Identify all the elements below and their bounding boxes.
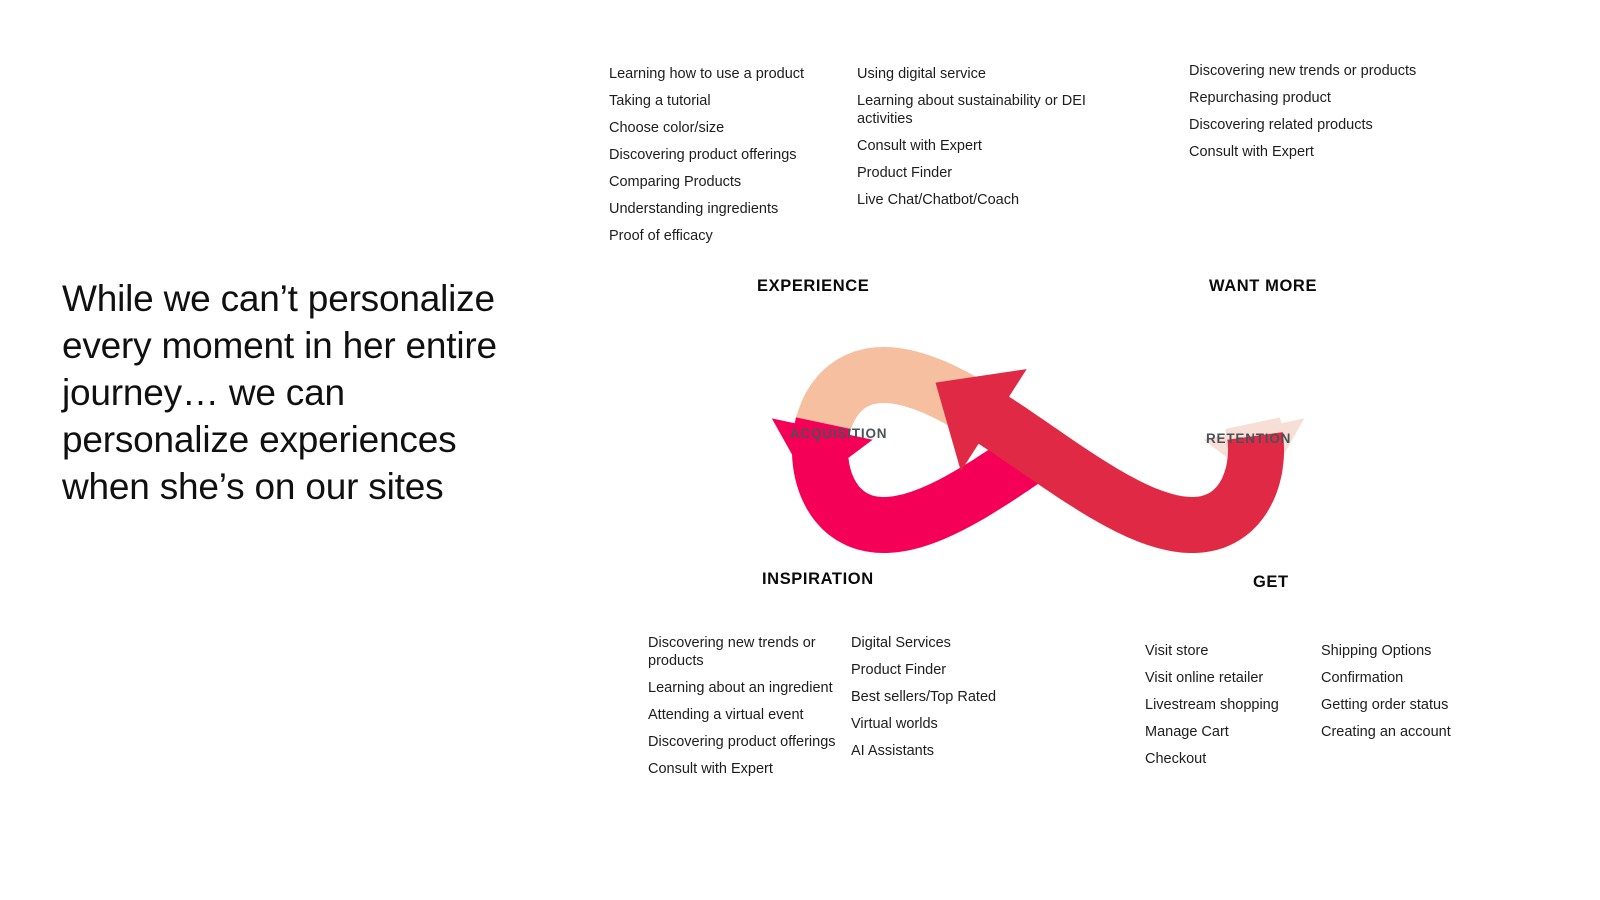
journey-item: Live Chat/Chatbot/Coach xyxy=(857,191,1087,209)
journey-item: Learning about an ingredient xyxy=(648,679,838,697)
headline: While we can’t personalize every moment … xyxy=(62,275,532,510)
experience-list-column-b: Using digital serviceLearning about sust… xyxy=(857,65,1087,209)
journey-item: Learning about sustainability or DEI act… xyxy=(857,92,1087,128)
journey-item: Attending a virtual event xyxy=(648,706,838,724)
journey-item: Visit store xyxy=(1145,642,1315,660)
infinity-loop-diagram xyxy=(588,248,1488,636)
journey-item: Discovering new trends or products xyxy=(648,634,838,670)
journey-item: Taking a tutorial xyxy=(609,92,845,110)
headline-line: every moment in her entire xyxy=(62,322,532,369)
headline-line: While we can’t personalize xyxy=(62,275,532,322)
headline-line: journey… we can xyxy=(62,369,532,416)
journey-item: Discovering related products xyxy=(1189,116,1419,134)
journey-item: AI Assistants xyxy=(851,742,1051,760)
journey-item: Consult with Expert xyxy=(857,137,1087,155)
want-more-list-column-a: Discovering new trends or productsRepurc… xyxy=(1189,62,1419,161)
journey-item: Getting order status xyxy=(1321,696,1501,714)
experience-list-column-a: Learning how to use a productTaking a tu… xyxy=(609,65,845,245)
journey-item: Shipping Options xyxy=(1321,642,1501,660)
want-more-ribbon xyxy=(982,399,1284,553)
inspiration-list-column-a: Discovering new trends or productsLearni… xyxy=(648,634,838,778)
get-list-column-a: Visit storeVisit online retailerLivestre… xyxy=(1145,642,1315,768)
journey-item: Discovering new trends or products xyxy=(1189,62,1419,80)
inspiration-list-column-b: Digital ServicesProduct FinderBest selle… xyxy=(851,634,1051,760)
journey-item: Checkout xyxy=(1145,750,1315,768)
journey-item: Repurchasing product xyxy=(1189,89,1419,107)
journey-item: Proof of efficacy xyxy=(609,227,845,245)
journey-item: Confirmation xyxy=(1321,669,1501,687)
infinity-loop-svg xyxy=(588,248,1488,636)
journey-item: Learning how to use a product xyxy=(609,65,845,83)
journey-item: Using digital service xyxy=(857,65,1087,83)
headline-line: personalize experiences xyxy=(62,416,532,463)
journey-item: Comparing Products xyxy=(609,173,845,191)
stage-label-get: GET xyxy=(1253,573,1289,592)
journey-item: Best sellers/Top Rated xyxy=(851,688,1051,706)
headline-line: when she’s on our sites xyxy=(62,463,532,510)
journey-item: Consult with Expert xyxy=(648,760,838,778)
journey-item: Choose color/size xyxy=(609,119,845,137)
journey-item: Product Finder xyxy=(857,164,1087,182)
journey-item: Virtual worlds xyxy=(851,715,1051,733)
stage-label-inspiration: INSPIRATION xyxy=(762,570,874,589)
get-list-column-b: Shipping OptionsConfirmationGetting orde… xyxy=(1321,642,1501,741)
journey-item: Product Finder xyxy=(851,661,1051,679)
journey-item: Consult with Expert xyxy=(1189,143,1419,161)
center-label-retention: RETENTION xyxy=(1206,431,1291,446)
stage-label-want-more: WANT MORE xyxy=(1209,277,1317,296)
journey-item: Livestream shopping xyxy=(1145,696,1315,714)
journey-item: Understanding ingredients xyxy=(609,200,845,218)
journey-item: Creating an account xyxy=(1321,723,1501,741)
journey-item: Visit online retailer xyxy=(1145,669,1315,687)
stage-label-experience: EXPERIENCE xyxy=(757,277,869,296)
journey-item: Discovering product offerings xyxy=(648,733,838,751)
journey-item: Discovering product offerings xyxy=(609,146,845,164)
journey-item: Digital Services xyxy=(851,634,1051,652)
journey-item: Manage Cart xyxy=(1145,723,1315,741)
center-label-acquisition: ACQUISITION xyxy=(790,426,887,441)
